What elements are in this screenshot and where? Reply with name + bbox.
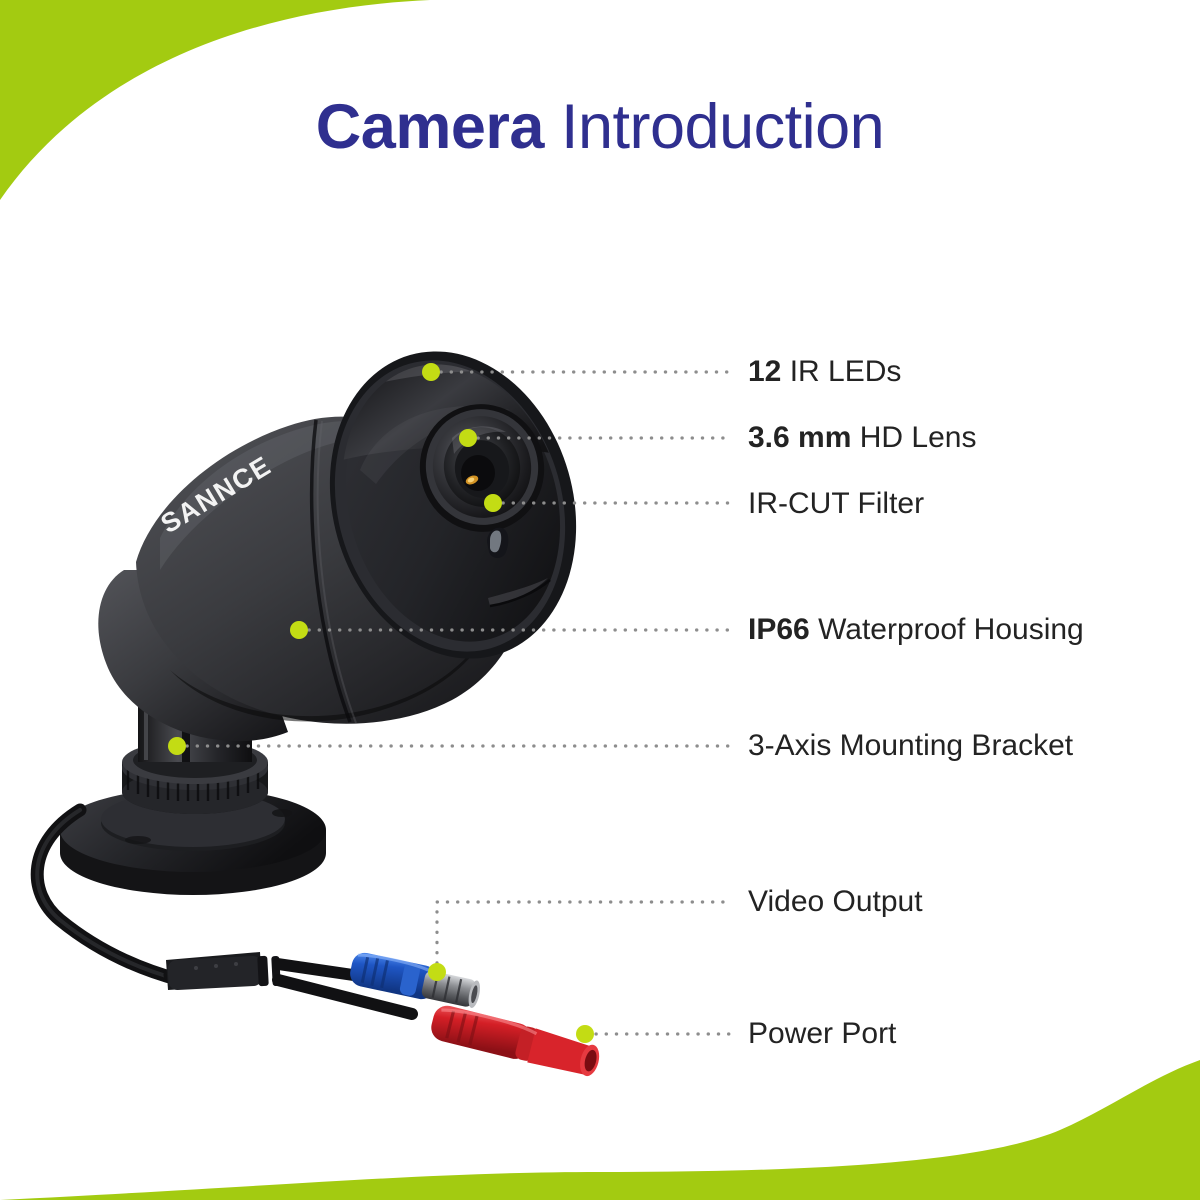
callout-label-video-output: Video Output: [748, 887, 923, 917]
callout-bold-ir-leds: 12: [748, 355, 781, 388]
callout-text-power-port: Power Port: [748, 1017, 896, 1050]
callout-text-hd-lens: HD Lens: [860, 421, 977, 454]
page-title-bold: Camera: [316, 92, 544, 162]
dc-power-connector: [428, 1003, 603, 1079]
callout-text-video-output: Video Output: [748, 885, 923, 918]
callout-text-waterproof-housing: Waterproof Housing: [818, 613, 1084, 646]
callout-label-waterproof-housing: IP66 Waterproof Housing: [748, 615, 1084, 645]
page-title: Camera Introduction: [0, 96, 1200, 159]
callout-bold-waterproof-housing: IP66: [748, 613, 810, 646]
camera-product-image: SANNCE: [20, 270, 720, 1100]
infographic-canvas: Camera Introduction: [0, 0, 1200, 1200]
callout-label-mounting-bracket: 3-Axis Mounting Bracket: [748, 731, 1073, 761]
page-title-light: Introduction: [561, 92, 884, 162]
callout-label-hd-lens: 3.6 mm HD Lens: [748, 423, 976, 453]
cable-splitter: [166, 952, 281, 990]
callout-bold-hd-lens: 3.6 mm: [748, 421, 851, 454]
callout-text-ir-leds: IR LEDs: [790, 355, 902, 388]
callout-label-ir-leds: 12 IR LEDs: [748, 357, 901, 387]
callout-label-ir-cut-filter: IR-CUT Filter: [748, 489, 924, 519]
callout-text-mounting-bracket: 3-Axis Mounting Bracket: [748, 729, 1073, 762]
callout-label-power-port: Power Port: [748, 1019, 896, 1049]
callout-text-ir-cut-filter: IR-CUT Filter: [748, 487, 924, 520]
